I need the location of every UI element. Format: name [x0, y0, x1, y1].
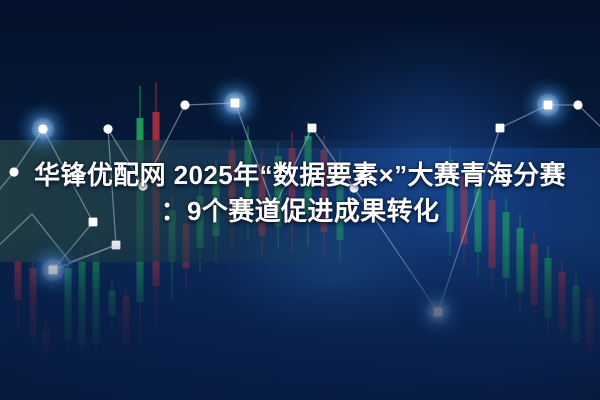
headline: 华锋优配网 2025年“数据要素×”大赛青海分赛 ：9个赛道促进成果转化 [0, 158, 600, 230]
headline-line-2: ：9个赛道促进成果转化 [14, 194, 586, 230]
banner-image: 华锋优配网 2025年“数据要素×”大赛青海分赛 ：9个赛道促进成果转化 [0, 0, 600, 400]
headline-line-1: 华锋优配网 2025年“数据要素×”大赛青海分赛 [14, 158, 586, 194]
